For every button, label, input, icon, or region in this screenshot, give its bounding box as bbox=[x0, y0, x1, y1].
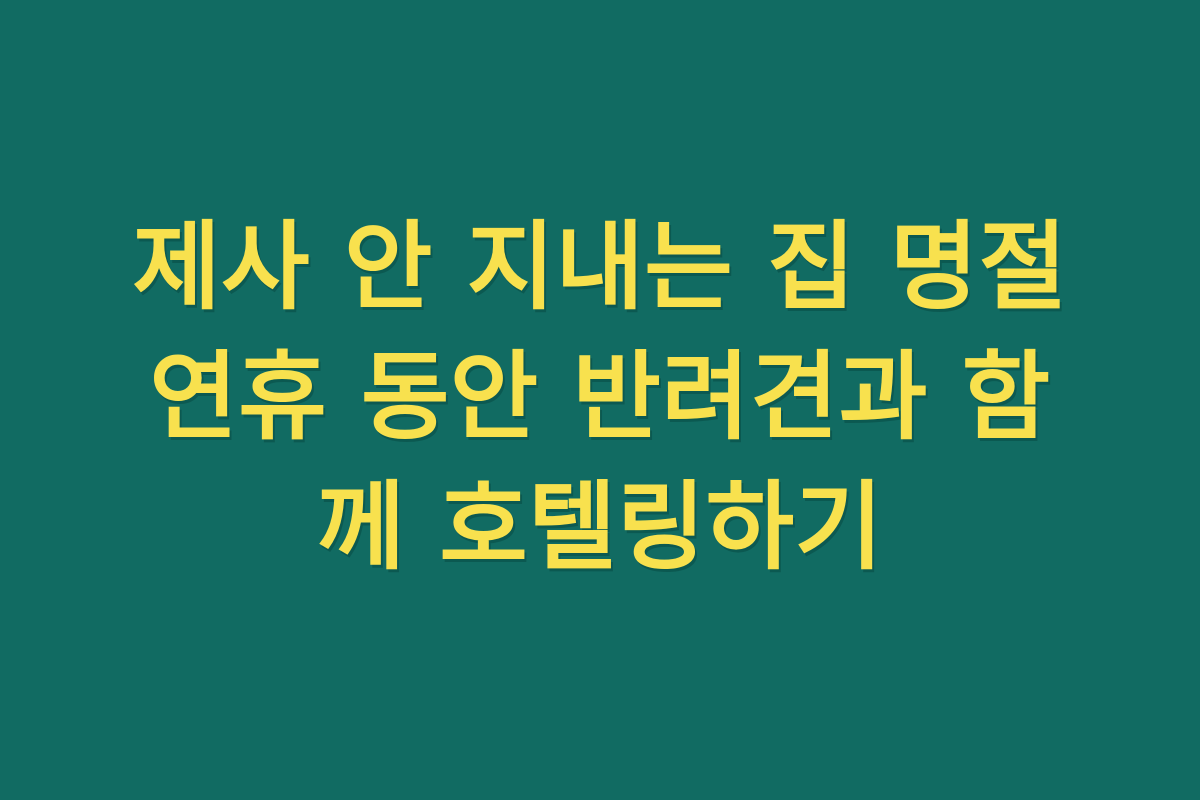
banner-title-line-2: 연휴 동안 반려견과 함 bbox=[100, 332, 1100, 462]
banner-title-line-3: 께 호텔링하기 bbox=[100, 462, 1100, 592]
banner-title-line-1: 제사 안 지내는 집 명절 bbox=[100, 202, 1100, 332]
thumbnail-banner: 제사 안 지내는 집 명절 연휴 동안 반려견과 함 께 호텔링하기 bbox=[0, 0, 1200, 800]
banner-title-block: 제사 안 지내는 집 명절 연휴 동안 반려견과 함 께 호텔링하기 bbox=[100, 202, 1100, 598]
